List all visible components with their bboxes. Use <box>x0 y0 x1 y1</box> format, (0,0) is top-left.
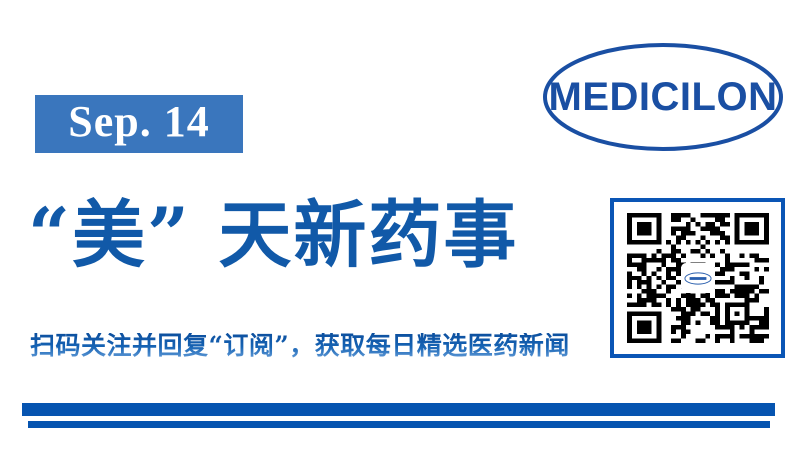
promo-banner: Sep. 14 MEDICILON “美” 天新药事 扫码关注并回复“订阅”，获… <box>0 0 800 468</box>
subtitle-text: 扫码关注并回复“订阅”，获取每日精选医药新闻 <box>30 333 570 358</box>
qr-center-logo <box>681 263 715 293</box>
qr-code[interactable] <box>627 213 769 343</box>
headline: “美” 天新药事 <box>28 183 588 288</box>
headline-text: “美” 天新药事 <box>28 199 518 272</box>
bottom-rule-thin <box>28 421 770 428</box>
medicilon-logo: MEDICILON <box>542 42 784 152</box>
date-badge: Sep. 14 <box>35 95 243 153</box>
bottom-rule-thick <box>22 403 775 416</box>
medicilon-wordmark: MEDICILON <box>549 75 778 119</box>
medicilon-logo-icon: MEDICILON <box>542 42 784 152</box>
medicilon-logo-small-icon <box>684 271 712 286</box>
date-badge-label: Sep. 14 <box>68 100 209 148</box>
qr-code-frame[interactable] <box>610 198 785 358</box>
subtitle: 扫码关注并回复“订阅”，获取每日精选医药新闻 <box>30 328 590 362</box>
